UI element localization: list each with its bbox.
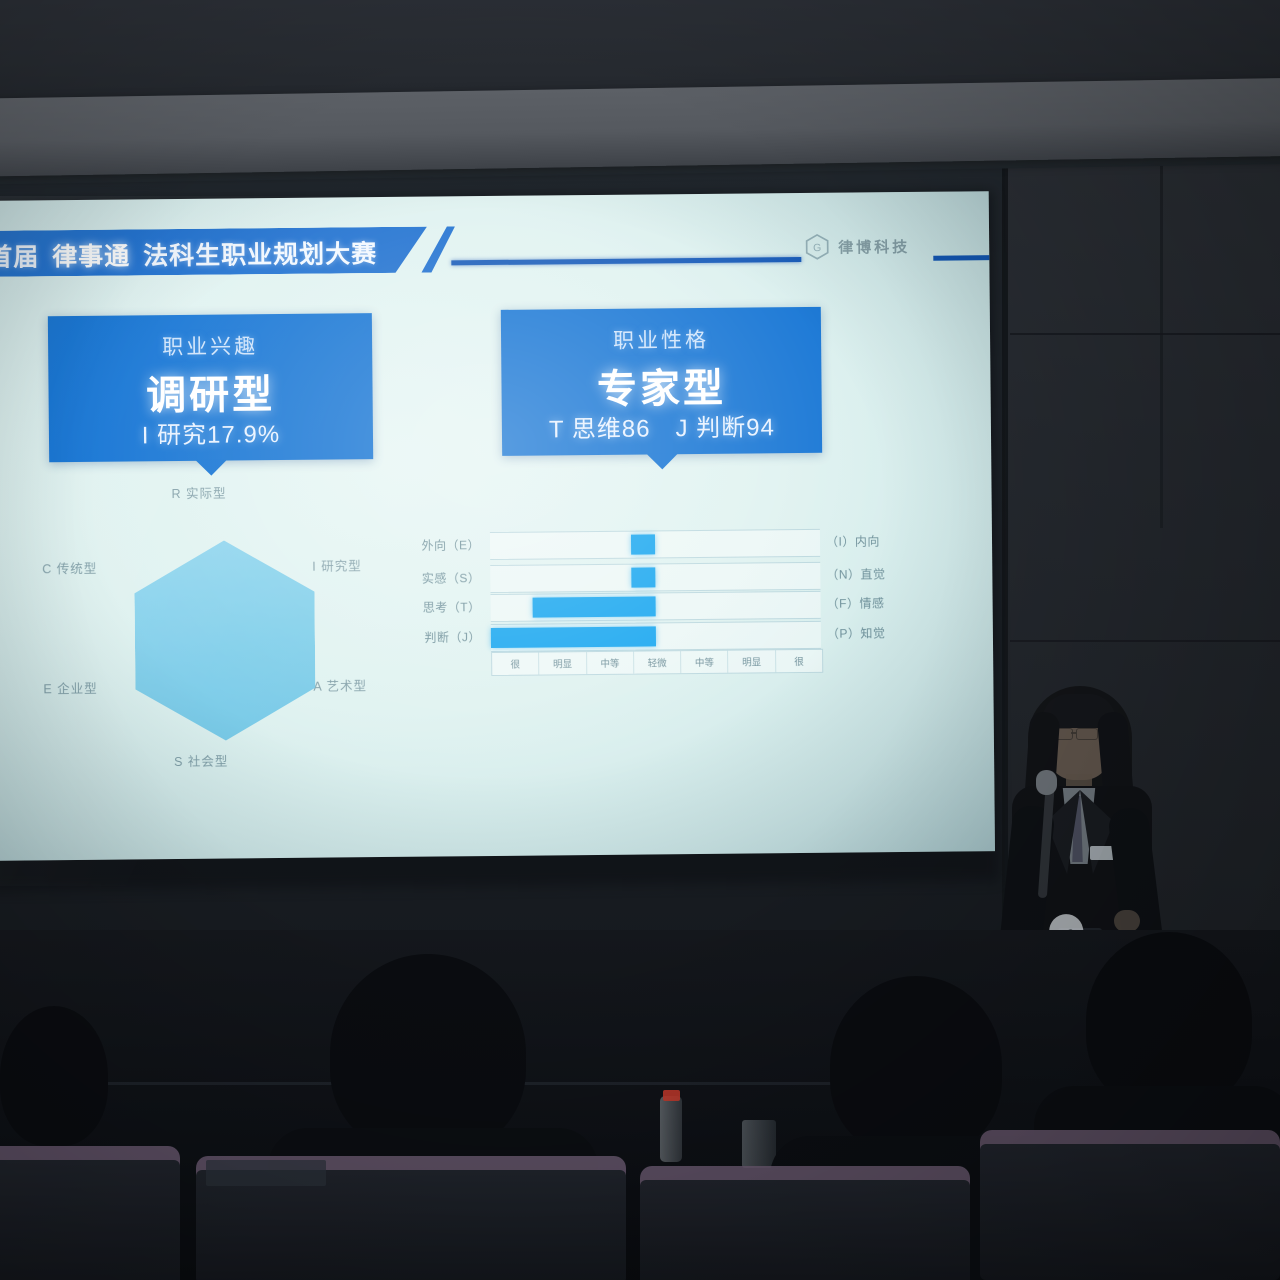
wall-seam-vertical-2 [1160, 108, 1163, 528]
mbti-row-sn: 实感（S） （N）直觉 [414, 561, 914, 593]
slide-header: 首届 律事通 法科生职业规划大赛 [0, 226, 451, 277]
mbti-row-jp: 判断（J） （P）知觉 [415, 620, 915, 652]
bottle-cap [663, 1090, 680, 1101]
mbti-track [491, 591, 821, 622]
glasses-icon-right [1076, 728, 1098, 740]
hex-label-top-left: C 传统型 [42, 558, 97, 578]
glasses-bridge [1071, 732, 1076, 734]
mbti-bar [533, 596, 656, 617]
scale-tick: 明显 [539, 652, 586, 674]
seat-back [0, 1146, 180, 1280]
audience-head [1086, 932, 1252, 1110]
hex-label-bottom-right: A 艺术型 [313, 675, 367, 695]
mbti-right-label: （N）直觉 [826, 565, 916, 583]
header-prefix: 首届 [0, 243, 39, 271]
microphone-icon [1036, 770, 1057, 795]
scale-tick: 中等 [681, 651, 728, 673]
header-rule-right [933, 255, 993, 261]
mbti-dimension-chart: 外向（E） （I）内向 实感（S） （N）直觉 思考（T） [414, 528, 916, 693]
seat-body [0, 1160, 180, 1280]
mbti-right-label: （P）知觉 [827, 624, 917, 642]
card-pointer-triangle [646, 453, 678, 469]
audience-head [330, 954, 526, 1154]
mbti-track [490, 562, 820, 593]
holland-hexagon-chart: R 实际型 I 研究型 A 艺术型 S 社会型 E 企业型 C 传统型 [23, 477, 426, 781]
scale-tick: 明显 [728, 650, 775, 672]
company-logo-text: 律博科技 [838, 235, 910, 257]
card-detail: I 研究17.9% [49, 413, 373, 451]
hexagon-logo-icon: G [803, 233, 831, 261]
svg-text:G: G [813, 242, 821, 254]
mbti-scale-axis: 很 明显 中等 轻微 中等 明显 很 [491, 649, 823, 676]
card-subtitle: 职业兴趣 [48, 329, 372, 362]
card-detail: T 思维86 J 判断94 [502, 407, 822, 445]
card-subtitle: 职业性格 [501, 323, 821, 356]
mbti-row-ei: 外向（E） （I）内向 [414, 528, 914, 560]
hex-label-bottom: S 社会型 [174, 751, 228, 771]
slide-content: 首届 律事通 法科生职业规划大赛 G 律博科技 职业兴趣 调研型 I 研究17.… [0, 191, 995, 861]
seat-body [196, 1170, 626, 1280]
header-title: 首届 律事通 法科生职业规划大赛 [0, 234, 377, 274]
header-brand: 律事通 [47, 236, 135, 273]
wall-seam-horizontal-2 [1010, 640, 1280, 642]
seat-body [640, 1180, 970, 1280]
mbti-bar [491, 626, 656, 648]
hexagon-fill-shape [134, 540, 316, 742]
mbti-right-label: （I）内向 [826, 532, 916, 550]
audience-area [0, 930, 1280, 1280]
mbti-row-tf: 思考（T） （F）情感 [415, 590, 915, 622]
scale-tick: 很 [776, 650, 822, 672]
seat-back [980, 1130, 1280, 1280]
wall-seam-horizontal [1010, 333, 1280, 335]
presenter-hand [1114, 910, 1140, 932]
mbti-left-label: 外向（E） [414, 536, 480, 554]
photo-scene: 首届 律事通 法科生职业规划大赛 G 律博科技 职业兴趣 调研型 I 研究17.… [0, 0, 1280, 1280]
hex-label-top: R 实际型 [171, 483, 226, 503]
company-logo: G 律博科技 [803, 232, 910, 261]
header-rule [451, 257, 801, 265]
card-career-interest: 职业兴趣 调研型 I 研究17.9% [48, 313, 373, 462]
audience-head [830, 976, 1002, 1156]
hex-label-bottom-left: E 企业型 [43, 678, 97, 698]
header-title-text: 法科生职业规划大赛 [143, 240, 377, 270]
mbti-track [491, 621, 821, 652]
mbti-left-label: 实感（S） [414, 569, 480, 587]
scale-tick: 很 [492, 653, 539, 675]
paper-on-desk [206, 1160, 326, 1186]
mbti-track [490, 529, 820, 560]
drinking-cup [742, 1120, 776, 1168]
mbti-bar [631, 567, 655, 587]
scale-tick: 轻微 [634, 651, 681, 673]
mbti-bar [631, 534, 655, 554]
card-pointer-triangle [195, 460, 227, 476]
projection-screen: 首届 律事通 法科生职业规划大赛 G 律博科技 职业兴趣 调研型 I 研究17.… [0, 191, 999, 891]
audience-head [0, 1006, 108, 1146]
mbti-left-label: 思考（T） [415, 598, 481, 616]
scale-tick: 中等 [587, 652, 634, 674]
water-bottle [660, 1096, 682, 1162]
seat-body [980, 1144, 1280, 1280]
seat-back [640, 1166, 970, 1280]
mbti-right-label: （F）情感 [827, 594, 917, 612]
header-slash-shape [421, 226, 455, 272]
card-career-personality: 职业性格 专家型 T 思维86 J 判断94 [501, 307, 822, 456]
mbti-left-label: 判断（J） [415, 628, 481, 646]
hex-label-top-right: I 研究型 [312, 555, 362, 574]
